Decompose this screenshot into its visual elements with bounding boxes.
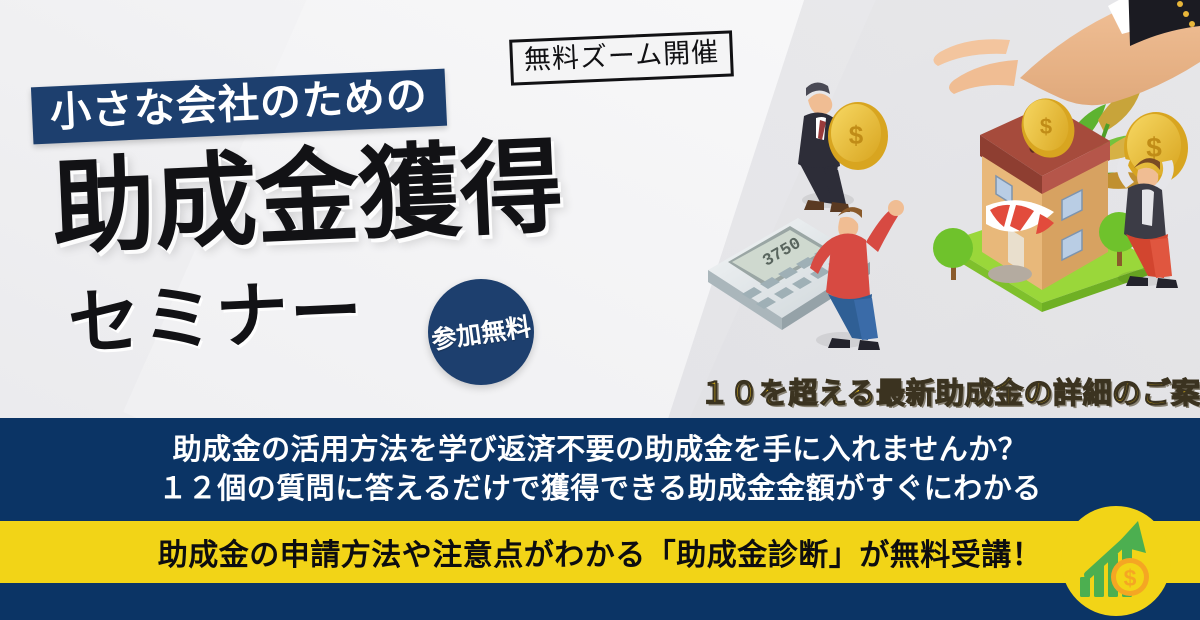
svg-text:$: $ [1040,114,1052,139]
currency-symbol: $ [1124,565,1137,591]
message-band: 助成金の活用方法を学び返済不要の助成金を手に入れませんか？ １２個の質問に答える… [0,418,1200,521]
tree-left [933,228,973,280]
free-zoom-tag-label: 無料ズーム開催 [523,37,719,76]
highlight-band-label: 助成金の申請方法や注意点がわかる「助成金診断」が無料受講！ [158,530,1043,574]
message-line-1: 助成金の活用方法を学び返済不要の助成金を手に入れませんか？ [173,431,1028,469]
page-title: 助成金獲得 [50,135,564,260]
page-subtitle: セミナー [67,276,366,361]
isometric-subsidy-house-scene: $ 3750 [690,0,1200,375]
seminar-banner: $ 3750 [0,0,1200,620]
highlight-band: 助成金の申請方法や注意点がわかる「助成金診断」が無料受講！ [0,521,1200,583]
bottom-strip [0,583,1200,620]
coin-large-left: $ [828,102,888,170]
svg-text:$: $ [849,120,864,150]
growth-chart-coin-icon: $ [1060,505,1172,617]
eyebrow-label: 小さな会社のための [49,75,428,133]
message-line-2: １２個の質問に答えるだけで獲得できる助成金金額がすぐにわかる [158,470,1042,508]
dollar-coin-icon: $ [1111,558,1149,596]
free-participation-badge: 参加無料 [428,279,534,385]
businessman-carrying-coin: $ [798,82,888,212]
subsidy-count-caption: １０を超える最新助成金の詳細のご案内 [700,370,1200,412]
free-participation-badge-label: 参加無料 [429,307,533,357]
free-zoom-tag: 無料ズーム開催 [509,30,734,85]
